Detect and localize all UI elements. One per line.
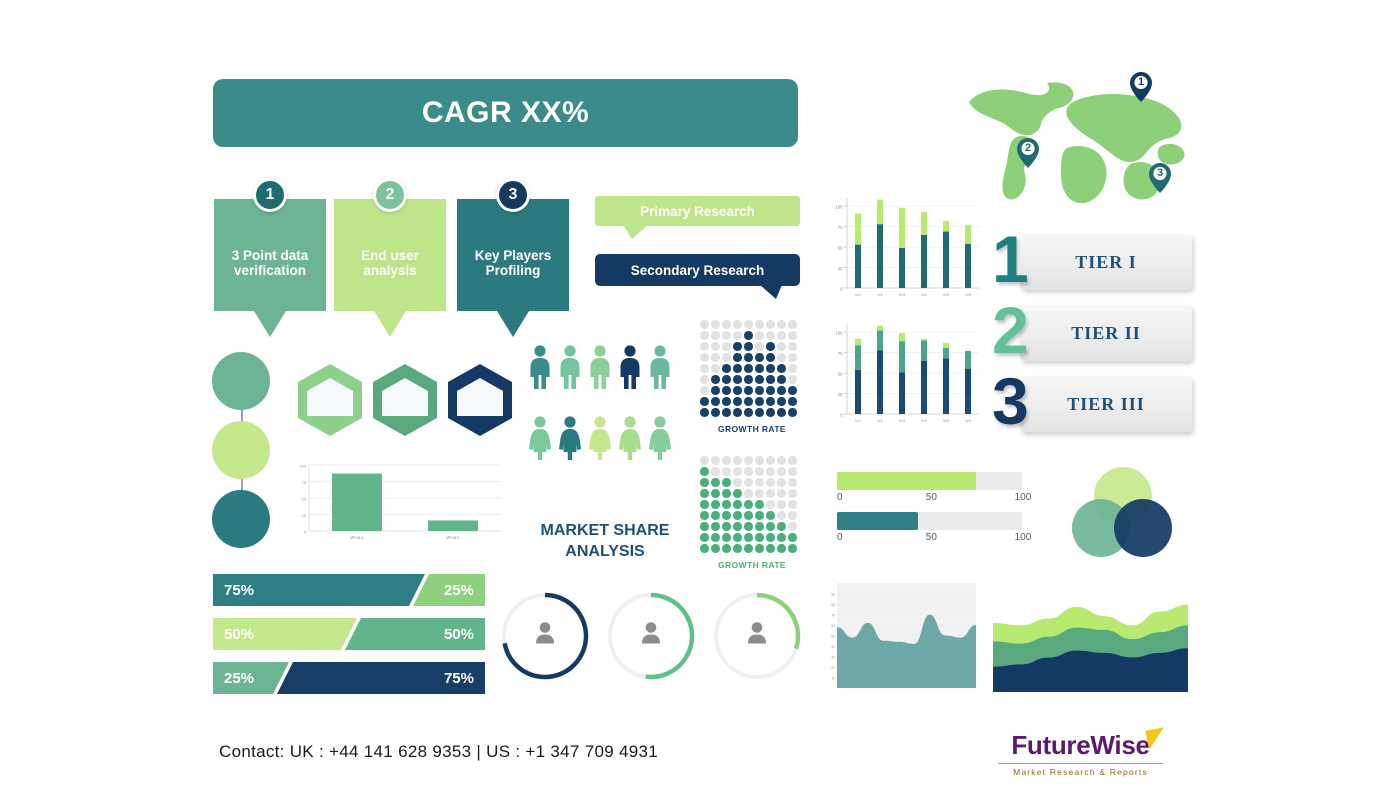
matrix-dot (788, 397, 797, 406)
donut-progress-1 (497, 588, 593, 684)
matrix-dot (733, 489, 742, 498)
svg-text:W6: W6 (965, 418, 972, 423)
matrix-dot (722, 353, 731, 362)
matrix-dot (711, 522, 720, 531)
matrix-dot (744, 533, 753, 542)
matrix-dot (711, 478, 720, 487)
matrix-dot (722, 364, 731, 373)
matrix-dot (722, 478, 731, 487)
matrix-dot (766, 342, 775, 351)
matrix-dot (766, 522, 775, 531)
svg-text:100: 100 (835, 204, 843, 209)
svg-text:75: 75 (838, 351, 843, 356)
matrix-dot (788, 544, 797, 553)
matrix-dot (744, 522, 753, 531)
matrix-dot (711, 320, 720, 329)
people-pictogram (527, 344, 677, 472)
hexagon-shape (445, 362, 515, 438)
matrix-dot (733, 456, 742, 465)
matrix-dot (711, 533, 720, 542)
svg-text:W3: W3 (899, 418, 906, 423)
person-icon (617, 344, 643, 395)
matrix-dot (788, 408, 797, 417)
matrix-dot (766, 467, 775, 476)
matrix-dot (744, 342, 753, 351)
matrix-dot (722, 408, 731, 417)
matrix-dot (777, 386, 786, 395)
matrix-dot (700, 408, 709, 417)
matrix-dot (755, 320, 764, 329)
tier-plate: TIER III (1020, 376, 1192, 432)
matrix-dot (722, 386, 731, 395)
stacked-bar-chart-2: 0255075100W1W2W3W4W5W6 (825, 320, 985, 430)
callout-body: 1 3 Point data verification (214, 199, 326, 311)
matrix-dot (733, 478, 742, 487)
hexagon-row (295, 362, 510, 438)
matrix-dot (766, 408, 775, 417)
tier-plate: TIER I (1020, 234, 1192, 290)
matrix-dot (744, 408, 753, 417)
matrix-dot (722, 500, 731, 509)
venn-diagram (1068, 466, 1178, 562)
matrix-dot (733, 467, 742, 476)
tier-plate: TIER II (1020, 305, 1192, 361)
svg-text:W3: W3 (899, 292, 906, 297)
matrix-dot (722, 397, 731, 406)
callout-label: End user analysis (340, 248, 440, 278)
slider-fill (837, 472, 976, 490)
tier-row-2[interactable]: TIER II 2 (992, 305, 1192, 361)
matrix-dot (722, 331, 731, 340)
logo-wordmark: FutureWise (1011, 730, 1149, 760)
callout-badge: 1 (253, 178, 287, 212)
matrix-dot (755, 533, 764, 542)
matrix-dot (755, 408, 764, 417)
matrix-dot (733, 342, 742, 351)
matrix-dot (766, 533, 775, 542)
callout-badge: 3 (496, 178, 530, 212)
person-icon (587, 344, 613, 395)
donut-progress-3 (709, 588, 805, 684)
market-share-title: MARKET SHARE ANALYSIS (505, 520, 705, 562)
slider-tick-label: 50 (926, 532, 937, 543)
mini-bar-chart: 0255075100What aWhat b (287, 461, 505, 545)
callout-label: 3 Point data verification (220, 248, 320, 278)
slider-fill (837, 512, 918, 530)
svg-text:W5: W5 (943, 418, 950, 423)
hexagon-shape (295, 362, 365, 438)
matrix-dot (733, 397, 742, 406)
matrix-dot (788, 342, 797, 351)
percent-left-label: 50% (224, 618, 254, 650)
map-pin-number: 2 (1017, 142, 1039, 154)
matrix-dot (777, 533, 786, 542)
matrix-dot (777, 511, 786, 520)
slider-tick-label: 100 (1015, 492, 1032, 503)
tier-row-3[interactable]: TIER III 3 (992, 376, 1192, 432)
primary-research-label: Primary Research (640, 204, 755, 219)
matrix-dot (700, 320, 709, 329)
matrix-dot (711, 467, 720, 476)
svg-text:What b: What b (446, 535, 460, 540)
matrix-dot (711, 331, 720, 340)
matrix-dot (722, 489, 731, 498)
matrix-dot (788, 467, 797, 476)
matrix-dot (744, 364, 753, 373)
svg-text:50: 50 (838, 371, 843, 376)
matrix-dot (700, 353, 709, 362)
map-pin-2[interactable]: 2 (1017, 138, 1039, 173)
matrix-dot (700, 331, 709, 340)
svg-text:50: 50 (831, 635, 835, 639)
percent-right-label: 50% (444, 618, 474, 650)
growth-rate-matrix-2: GROWTH RATE (700, 456, 804, 570)
matrix-dot (788, 353, 797, 362)
svg-text:W2: W2 (877, 292, 884, 297)
matrix-dot (766, 489, 775, 498)
person-icon (647, 415, 673, 466)
secondary-research-label: Secondary Research (631, 263, 765, 278)
tier-row-1[interactable]: TIER I 1 (992, 234, 1192, 290)
matrix-dot (766, 375, 775, 384)
callout-body: 3 Key Players Profiling (457, 199, 569, 311)
matrix-dot (755, 353, 764, 362)
matrix-dot (722, 544, 731, 553)
people-row-men (527, 344, 677, 395)
matrix-dot (722, 456, 731, 465)
percent-bar-row-1: 75% 25% (213, 574, 485, 606)
cagr-title: CAGR XX% (422, 96, 589, 130)
matrix-dot (788, 320, 797, 329)
matrix-dot (700, 456, 709, 465)
matrix-dot (755, 331, 764, 340)
tier-label: TIER II (1071, 323, 1141, 344)
svg-text:10: 10 (831, 677, 835, 681)
percent-bar-row-2: 50% 50% (213, 618, 485, 650)
matrix-dot (711, 375, 720, 384)
svg-text:W4: W4 (921, 418, 928, 423)
svg-text:40: 40 (831, 645, 835, 649)
svg-text:W2: W2 (877, 418, 884, 423)
infographic-canvas: CAGR XX% 1 3 Point data verification 2 E… (0, 0, 1400, 800)
matrix-dot (744, 500, 753, 509)
svg-text:25: 25 (838, 392, 843, 397)
matrix-dot (711, 353, 720, 362)
person-icon (587, 415, 613, 466)
matrix-dot (711, 408, 720, 417)
matrix-dot (733, 364, 742, 373)
matrix-dot (788, 533, 797, 542)
matrix-dot (755, 467, 764, 476)
matrix-dot (711, 364, 720, 373)
svg-text:90: 90 (831, 593, 835, 597)
matrix-dot (788, 489, 797, 498)
growth-rate-caption: GROWTH RATE (700, 560, 804, 570)
svg-text:25: 25 (838, 266, 843, 271)
matrix-dot (722, 522, 731, 531)
matrix-dot (788, 364, 797, 373)
svg-text:W1: W1 (855, 292, 862, 297)
matrix-dot (766, 386, 775, 395)
callout-tail (497, 311, 529, 337)
callout-label: Key Players Profiling (463, 248, 563, 278)
matrix-dot (700, 364, 709, 373)
matrix-dot (744, 544, 753, 553)
map-pin-1[interactable]: 1 (1130, 72, 1152, 107)
percent-left-label: 25% (224, 662, 254, 694)
matrix-dot (733, 408, 742, 417)
matrix-dot (788, 478, 797, 487)
matrix-dot (700, 500, 709, 509)
matrix-dot (733, 386, 742, 395)
matrix-dot (733, 320, 742, 329)
world-map: 123 (955, 68, 1193, 218)
slider-track[interactable] (837, 472, 1022, 490)
circle-stack (212, 352, 272, 548)
stack-circle (212, 421, 270, 479)
svg-text:80: 80 (831, 603, 835, 607)
matrix-dot (777, 375, 786, 384)
matrix-dot (722, 533, 731, 542)
slider-track[interactable] (837, 512, 1022, 530)
matrix-dot (711, 342, 720, 351)
matrix-dot (755, 522, 764, 531)
matrix-dot (711, 489, 720, 498)
svg-text:W6: W6 (965, 292, 972, 297)
svg-text:75: 75 (302, 480, 307, 485)
matrix-dot (744, 331, 753, 340)
person-icon (527, 344, 553, 395)
logo-divider (998, 763, 1163, 764)
matrix-dot (755, 397, 764, 406)
matrix-dot (744, 467, 753, 476)
percent-right-label: 25% (444, 574, 474, 606)
matrix-dot (733, 331, 742, 340)
matrix-dot (755, 489, 764, 498)
matrix-dot (788, 375, 797, 384)
person-icon (647, 344, 673, 395)
hexagon-shape (370, 362, 440, 438)
matrix-dot (700, 397, 709, 406)
callout-body: 2 End user analysis (334, 199, 446, 311)
matrix-dot (788, 522, 797, 531)
map-pin-number: 3 (1149, 167, 1171, 179)
range-slider-2[interactable]: 050100 (837, 512, 1022, 548)
map-pin-3[interactable]: 3 (1149, 163, 1171, 198)
matrix-dot (788, 386, 797, 395)
matrix-dot (788, 500, 797, 509)
dot-grid (700, 320, 804, 419)
matrix-dot (711, 511, 720, 520)
secondary-research-tag[interactable]: Secondary Research (595, 254, 800, 286)
matrix-dot (700, 544, 709, 553)
cagr-banner: CAGR XX% (213, 79, 798, 147)
range-slider-1[interactable]: 050100 (837, 472, 1022, 508)
matrix-dot (744, 320, 753, 329)
matrix-dot (700, 511, 709, 520)
matrix-dot (777, 342, 786, 351)
dot-grid (700, 456, 804, 555)
slider-ticks: 050100 (837, 492, 1022, 508)
matrix-dot (722, 467, 731, 476)
matrix-dot (777, 522, 786, 531)
stack-circle (212, 352, 270, 410)
stack-circle (212, 490, 270, 548)
matrix-dot (733, 544, 742, 553)
person-icon (531, 620, 559, 653)
person-icon (557, 415, 583, 466)
matrix-dot (766, 364, 775, 373)
matrix-dot (777, 478, 786, 487)
matrix-dot (777, 456, 786, 465)
matrix-dot (777, 353, 786, 362)
matrix-dot (722, 320, 731, 329)
matrix-dot (755, 478, 764, 487)
matrix-dot (711, 544, 720, 553)
matrix-dot (744, 375, 753, 384)
area-chart-1: 102030405060708090 (823, 577, 978, 692)
matrix-dot (777, 544, 786, 553)
matrix-dot (755, 364, 764, 373)
svg-text:30: 30 (831, 656, 835, 660)
matrix-dot (788, 511, 797, 520)
svg-text:50: 50 (302, 497, 307, 502)
primary-research-tag[interactable]: Primary Research (595, 196, 800, 226)
person-icon (557, 344, 583, 395)
logo-wordmark-wrap: FutureWise (1011, 730, 1149, 761)
matrix-dot (777, 364, 786, 373)
matrix-dot (744, 511, 753, 520)
percent-left-label: 75% (224, 574, 254, 606)
matrix-dot (755, 375, 764, 384)
callout-card-1[interactable]: 1 3 Point data verification (214, 199, 326, 337)
matrix-dot (700, 375, 709, 384)
svg-text:100: 100 (835, 330, 843, 335)
matrix-dot (755, 544, 764, 553)
matrix-dot (755, 500, 764, 509)
matrix-dot (733, 522, 742, 531)
svg-text:W1: W1 (855, 418, 862, 423)
matrix-dot (766, 331, 775, 340)
svg-text:20: 20 (831, 666, 835, 670)
matrix-dot (722, 511, 731, 520)
matrix-dot (755, 342, 764, 351)
people-row-women (527, 415, 677, 466)
matrix-dot (766, 500, 775, 509)
futurewise-logo: FutureWise Market Research & Reports (988, 730, 1173, 777)
percent-bar-row-3: 25% 75% (213, 662, 485, 694)
matrix-dot (700, 478, 709, 487)
svg-text:W5: W5 (943, 292, 950, 297)
arrow-icon (1145, 727, 1168, 750)
matrix-dot (700, 522, 709, 531)
matrix-dot (777, 408, 786, 417)
matrix-dot (733, 511, 742, 520)
svg-text:0: 0 (840, 412, 843, 417)
matrix-dot (766, 544, 775, 553)
matrix-dot (733, 353, 742, 362)
matrix-dot (744, 456, 753, 465)
svg-text:0: 0 (304, 530, 307, 535)
matrix-dot (777, 320, 786, 329)
svg-text:75: 75 (838, 225, 843, 230)
callout-card-2[interactable]: 2 End user analysis (334, 199, 446, 337)
svg-text:50: 50 (838, 245, 843, 250)
matrix-dot (777, 500, 786, 509)
matrix-dot (766, 397, 775, 406)
matrix-dot (766, 320, 775, 329)
tier-label: TIER III (1067, 394, 1145, 415)
matrix-dot (711, 397, 720, 406)
callout-tail (254, 311, 286, 337)
matrix-dot (733, 533, 742, 542)
contact-line: Contact: UK : +44 141 628 9353 | US : +1… (219, 742, 658, 762)
matrix-dot (777, 397, 786, 406)
callout-badge: 2 (373, 178, 407, 212)
matrix-dot (733, 500, 742, 509)
tier-number: 3 (992, 368, 1029, 434)
matrix-dot (755, 511, 764, 520)
growth-rate-matrix-1: GROWTH RATE (700, 320, 804, 434)
matrix-dot (744, 386, 753, 395)
area-chart-2 (993, 577, 1188, 692)
matrix-dot (700, 342, 709, 351)
matrix-dot (744, 478, 753, 487)
matrix-dot (722, 375, 731, 384)
matrix-dot (777, 331, 786, 340)
logo-tagline: Market Research & Reports (988, 767, 1173, 777)
matrix-dot (711, 456, 720, 465)
matrix-dot (755, 386, 764, 395)
svg-text:25: 25 (302, 513, 307, 518)
growth-rate-caption: GROWTH RATE (700, 424, 804, 434)
svg-text:What a: What a (350, 535, 364, 540)
slider-tick-label: 50 (926, 492, 937, 503)
matrix-dot (700, 467, 709, 476)
matrix-dot (722, 342, 731, 351)
callout-card-3[interactable]: 3 Key Players Profiling (457, 199, 569, 337)
map-pin-number: 1 (1130, 76, 1152, 88)
person-icon (637, 620, 665, 653)
matrix-dot (733, 375, 742, 384)
svg-text:60: 60 (831, 624, 835, 628)
matrix-dot (777, 489, 786, 498)
matrix-dot (744, 489, 753, 498)
donut-progress-2 (603, 588, 699, 684)
percent-right-label: 75% (444, 662, 474, 694)
matrix-dot (788, 456, 797, 465)
matrix-dot (788, 331, 797, 340)
person-icon (617, 415, 643, 466)
matrix-dot (700, 533, 709, 542)
matrix-dot (700, 489, 709, 498)
slider-tick-label: 100 (1015, 532, 1032, 543)
matrix-dot (755, 456, 764, 465)
slider-tick-label: 0 (837, 492, 843, 503)
matrix-dot (744, 353, 753, 362)
callout-tail (374, 311, 406, 337)
tier-number: 1 (992, 226, 1029, 292)
svg-text:100: 100 (299, 464, 306, 469)
matrix-dot (777, 467, 786, 476)
matrix-dot (711, 386, 720, 395)
matrix-dot (744, 397, 753, 406)
matrix-dot (700, 386, 709, 395)
matrix-dot (766, 456, 775, 465)
matrix-dot (766, 511, 775, 520)
slider-ticks: 050100 (837, 532, 1022, 548)
matrix-dot (766, 353, 775, 362)
